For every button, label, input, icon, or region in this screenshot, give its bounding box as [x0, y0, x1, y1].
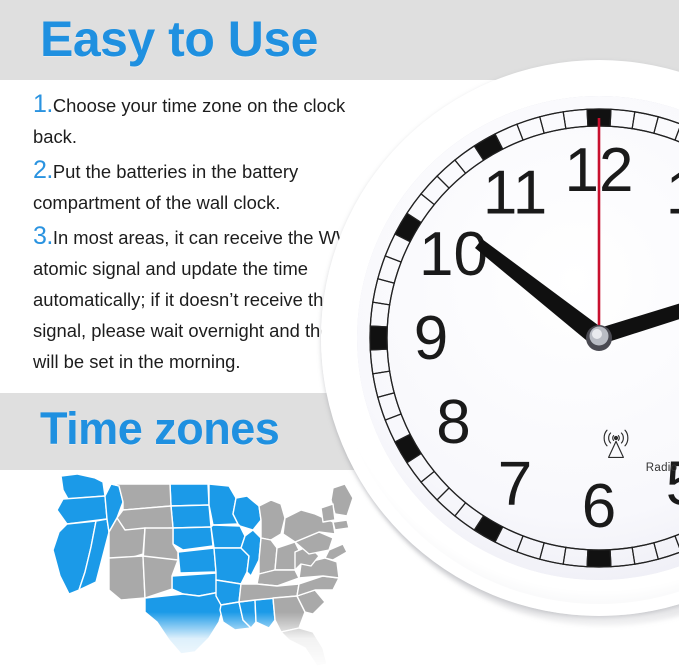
minute-tick [421, 471, 449, 500]
hand-pivot-highlight [592, 329, 602, 339]
instruction-steps: 1.Choose your time zone on the clock bac… [33, 90, 381, 381]
state-arizona [109, 556, 145, 600]
minute-tick [632, 112, 658, 133]
minute-tick [378, 256, 401, 283]
state-oklahoma [172, 573, 220, 596]
minute-tick [495, 124, 523, 149]
hour-tick [474, 134, 502, 160]
minute-tick [455, 146, 484, 173]
state-texas [145, 592, 223, 654]
minute-ticks [370, 109, 679, 567]
state-wisconsin [233, 496, 261, 530]
clock-dial: 123456789101112 [357, 96, 679, 580]
state-indiana [259, 538, 277, 574]
state-alabama [255, 598, 275, 628]
clock-bezel-shading [333, 72, 679, 604]
minute-tick [540, 112, 566, 133]
hour-tick [587, 109, 611, 126]
us-map-svg [33, 472, 363, 670]
step-item: 3.In most areas, it can receive the WWVB… [33, 222, 381, 377]
minute-tick [610, 109, 635, 128]
hour-tick [395, 213, 421, 241]
hour-hand [475, 239, 606, 345]
clock-face-svg: 123456789101112 [357, 96, 679, 580]
clock-numeral: 12 [565, 136, 634, 205]
minute-tick [675, 124, 679, 149]
state-wyoming [117, 506, 173, 530]
minute-tick [437, 160, 466, 188]
state-kansas [178, 548, 216, 573]
hour-tick [474, 516, 502, 542]
clock-numeral: 11 [483, 159, 547, 228]
us-time-zone-map [33, 472, 363, 670]
step-number: 2. [33, 156, 53, 184]
minute-hand [593, 257, 679, 343]
hour-tick [587, 550, 611, 567]
minute-tick [517, 536, 544, 559]
time-zones-title: Time zones [40, 403, 279, 455]
minute-tick [455, 503, 484, 530]
state-michigan [259, 500, 285, 540]
hand-pivot-cap [590, 327, 609, 346]
state-arkansas [216, 580, 241, 605]
minute-tick [563, 547, 588, 566]
minute-tick [563, 109, 588, 128]
step-text: Choose your time zone on the clock back. [33, 95, 345, 147]
minute-tick [632, 543, 658, 564]
minute-tick [385, 234, 410, 262]
hand-pivot [586, 325, 612, 351]
minute-tick [437, 488, 466, 516]
minute-tick [540, 543, 566, 564]
clock-numeral: 6 [582, 472, 616, 541]
clock-numerals: 123456789101112 [414, 136, 679, 541]
clock-numeral: 9 [414, 304, 448, 373]
state-missouri [214, 548, 249, 584]
state-kentucky [257, 570, 299, 586]
state-nebraska [173, 527, 213, 550]
minute-tick [675, 527, 679, 552]
state-massachusetts [333, 520, 349, 530]
state-vermont-newhampshire [321, 504, 335, 522]
easy-to-use-title: Easy to Use [40, 11, 318, 67]
state-florida [281, 628, 327, 666]
step-number: 3. [33, 222, 53, 250]
state-north-dakota [170, 484, 209, 506]
state-washington [61, 474, 105, 499]
minute-tick [421, 176, 449, 205]
minute-tick [654, 536, 679, 559]
infographic-page: Easy to Use 1.Choose your time zone on t… [0, 0, 679, 671]
minute-tick [654, 117, 679, 140]
minute-tick [495, 527, 523, 552]
step-item: 1.Choose your time zone on the clock bac… [33, 90, 381, 152]
step-text: In most areas, it can receive the WWVB a… [33, 227, 378, 372]
minute-tick [517, 117, 544, 140]
state-iowa [211, 525, 245, 548]
step-item: 2.Put the batteries in the battery compa… [33, 156, 381, 218]
step-text: Put the batteries in the battery compart… [33, 161, 298, 213]
clock-numeral: 10 [419, 220, 488, 289]
state-south-dakota [171, 505, 211, 528]
state-minnesota [209, 484, 238, 525]
minute-tick [407, 194, 434, 223]
clock-hands [475, 118, 679, 351]
step-number: 1. [33, 90, 53, 118]
clock-numeral: 1 [666, 159, 679, 228]
minute-tick [610, 547, 635, 566]
